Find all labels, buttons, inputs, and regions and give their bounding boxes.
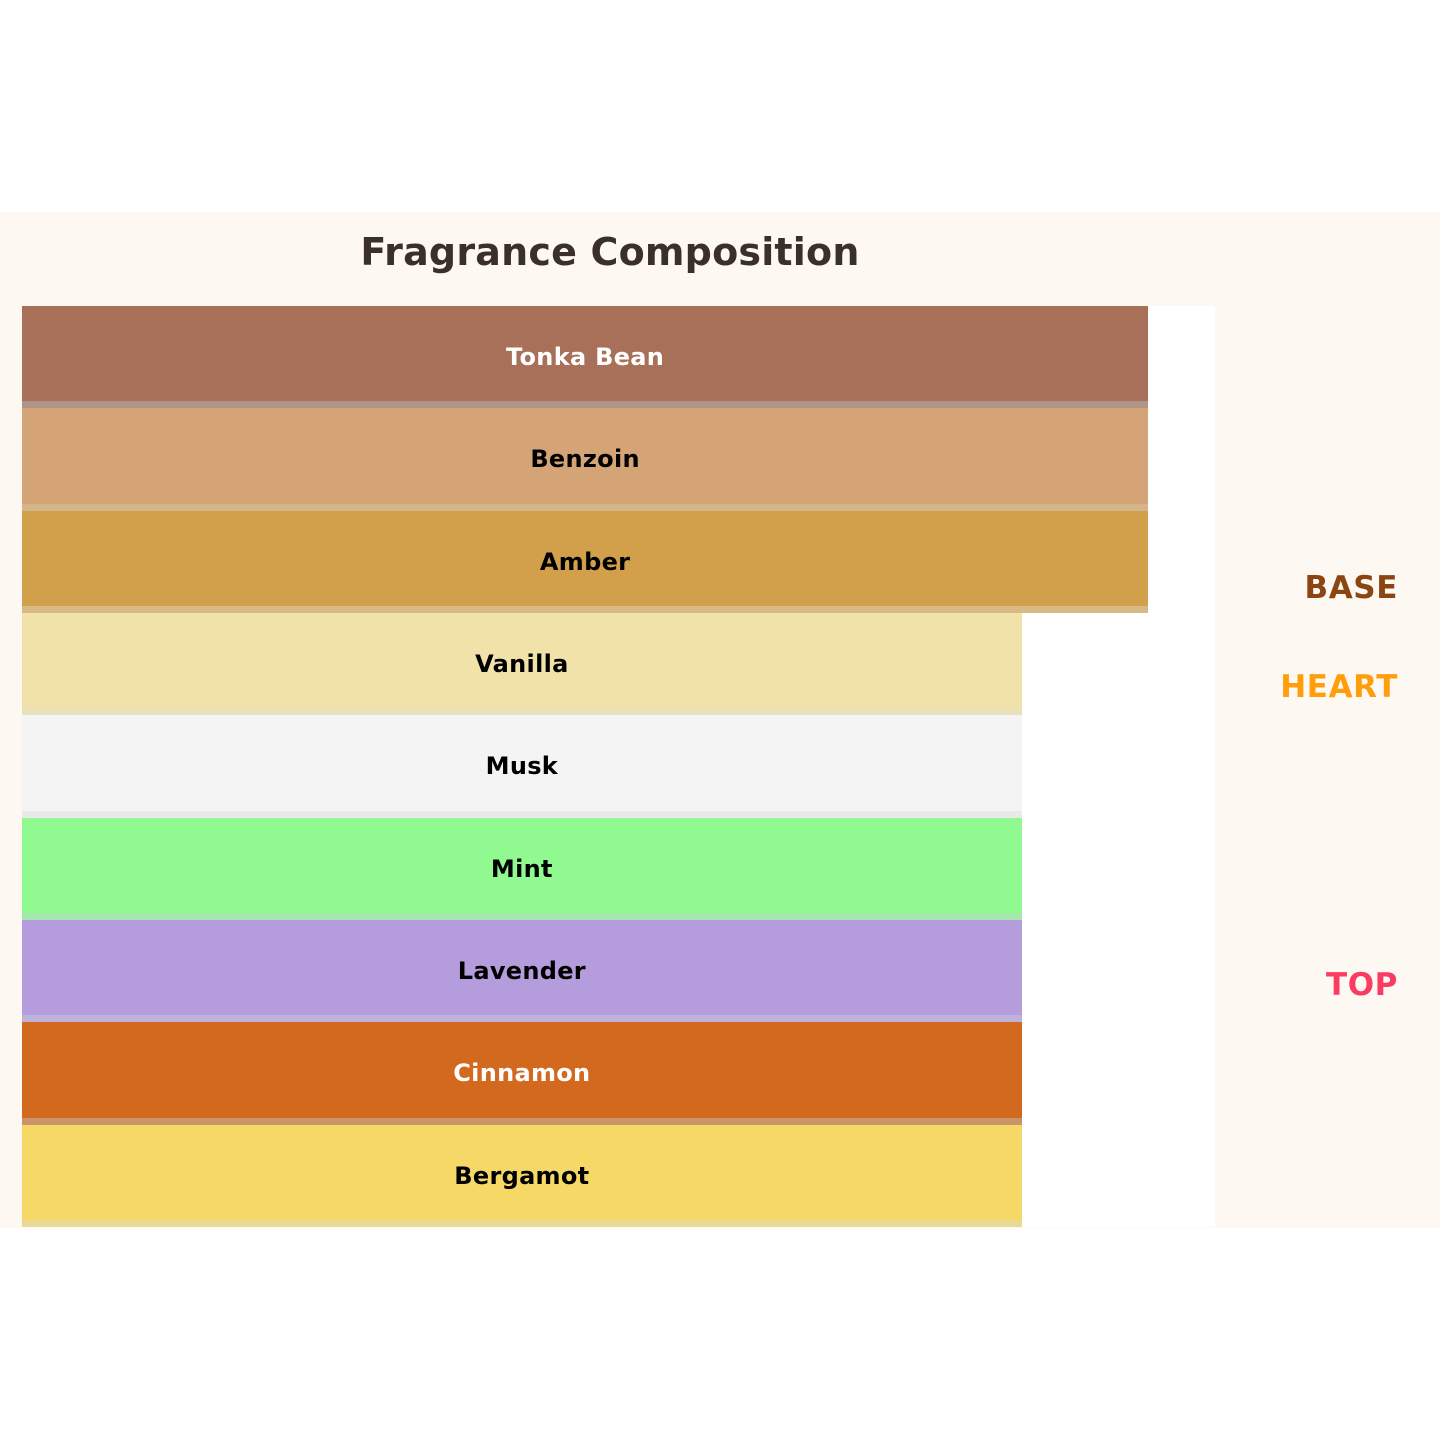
bar-tonka-bean[interactable] [22,306,1148,408]
bar-cinnamon[interactable] [22,1022,1022,1124]
bar-shadow-edge [22,1220,1022,1227]
bar-musk[interactable] [22,715,1022,817]
top-tone-label: TOP [1326,967,1398,1003]
page-title: Fragrance Composition [0,230,1220,274]
bar-row: Mint [22,818,1215,920]
bar-vanilla[interactable] [22,613,1022,715]
bar-amber[interactable] [22,511,1148,613]
figure-canvas: Fragrance Composition Tonka BeanBenzoinA… [0,212,1440,1228]
bar-row: Cinnamon [22,1022,1215,1124]
bar-shadow-edge [22,401,1148,408]
bar-shadow-edge [22,1015,1022,1022]
bar-row: Musk [22,715,1215,817]
bar-fill [22,715,1022,810]
bar-row: Tonka Bean [22,306,1215,408]
bar-benzoin[interactable] [22,408,1148,510]
bar-shadow-edge [22,913,1022,920]
bar-row: Lavender [22,920,1215,1022]
bar-row: Vanilla [22,613,1215,715]
base-tone-label: BASE [1304,570,1398,606]
bar-bergamot[interactable] [22,1125,1022,1227]
plot-area: Tonka BeanBenzoinAmberVanillaMuskMintLav… [22,306,1215,1227]
bar-row: Benzoin [22,408,1215,510]
bar-row: Bergamot [22,1125,1215,1227]
bar-fill [22,613,1022,708]
bar-shadow-edge [22,811,1022,818]
bar-fill [22,1022,1022,1117]
bar-lavender[interactable] [22,920,1022,1022]
bar-row: Amber [22,511,1215,613]
bar-mint[interactable] [22,818,1022,920]
bar-shadow-edge [22,708,1022,715]
bar-fill [22,818,1022,913]
bar-fill [22,920,1022,1015]
heart-tone-label: HEART [1280,669,1398,705]
bar-shadow-edge [22,504,1148,511]
bar-fill [22,511,1148,606]
bar-shadow-edge [22,606,1148,613]
bar-fill [22,408,1148,503]
bar-fill [22,1125,1022,1220]
bar-shadow-edge [22,1118,1022,1125]
bar-fill [22,306,1148,401]
